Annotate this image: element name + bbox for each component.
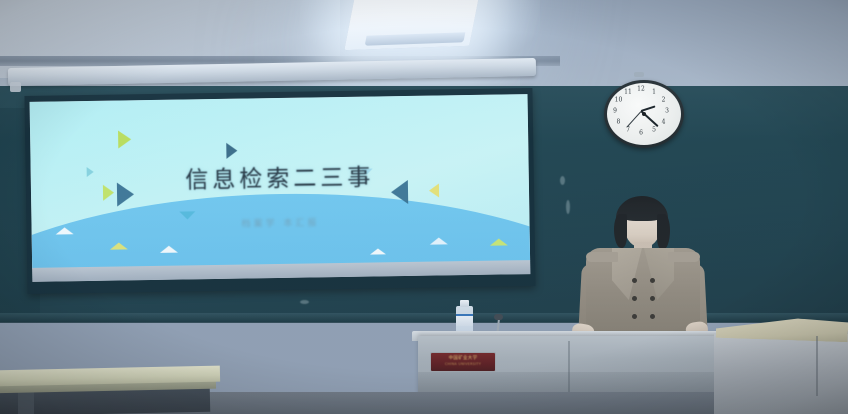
triangle-up-white-2-icon bbox=[160, 246, 178, 253]
chalk-mark-3 bbox=[560, 176, 565, 185]
screen-mount-bracket bbox=[10, 82, 21, 92]
coat-button-6 bbox=[650, 314, 655, 319]
slide-title: 信息检索二三事 bbox=[31, 155, 529, 197]
side-table-body bbox=[714, 334, 848, 414]
coat-button-2 bbox=[650, 278, 655, 283]
presenter-shoulder-left bbox=[586, 252, 618, 262]
clock-numeral-8: 8 bbox=[617, 118, 621, 125]
classroom-photo: Runbo 信息检索二三事 档案学 本汇报 121234567891011 bbox=[0, 0, 848, 414]
water-bottle-cap bbox=[460, 300, 469, 307]
triangle-right-green-icon bbox=[118, 130, 131, 148]
podium-plaque-line2: CHINA UNIVERSITY bbox=[431, 362, 495, 366]
triangle-up-yellow-1-icon bbox=[110, 242, 128, 249]
coat-button-3 bbox=[632, 296, 637, 301]
clock-numeral-4: 4 bbox=[662, 118, 666, 125]
triangle-right-navy-icon bbox=[226, 143, 237, 159]
triangle-up-white-3-icon bbox=[430, 237, 448, 244]
slide-decorations bbox=[30, 94, 528, 102]
clock-numeral-6: 6 bbox=[639, 129, 643, 136]
presenter-coat bbox=[586, 248, 700, 344]
clock-numeral-2: 2 bbox=[662, 97, 666, 104]
presentation-slide: 信息检索二三事 档案学 本汇报 bbox=[30, 94, 531, 269]
clock-center-pin bbox=[642, 112, 646, 116]
presenter-hair-left bbox=[614, 214, 627, 248]
triangle-up-green-1-icon bbox=[490, 238, 508, 245]
presenter-hair-right bbox=[657, 214, 670, 250]
clock-numeral-3: 3 bbox=[665, 108, 669, 115]
microphone-icon bbox=[494, 314, 503, 320]
presenter bbox=[556, 196, 728, 346]
clock-numeral-12: 12 bbox=[637, 86, 645, 93]
presenter-shoulder-right bbox=[668, 252, 700, 262]
projector-screen-surface: 信息检索二三事 档案学 本汇报 bbox=[30, 94, 531, 282]
clock-numeral-5: 5 bbox=[652, 126, 656, 133]
triangle-up-white-4-icon bbox=[370, 248, 386, 254]
clock-numeral-9: 9 bbox=[613, 108, 617, 115]
student-desk-leg bbox=[18, 392, 34, 414]
side-table-seam bbox=[816, 336, 818, 396]
clock-numeral-10: 10 bbox=[615, 97, 623, 104]
podium-plaque: 中国矿业大学 CHINA UNIVERSITY bbox=[430, 352, 496, 372]
clock-numeral-11: 11 bbox=[624, 89, 632, 96]
podium-panel-seam bbox=[568, 341, 570, 399]
coat-button-4 bbox=[650, 296, 655, 301]
coat-button-5 bbox=[632, 314, 637, 319]
clock-mount-nail bbox=[634, 72, 644, 77]
podium-plaque-line1: 中国矿业大学 bbox=[431, 355, 495, 361]
wall-clock: 121234567891011 bbox=[604, 80, 684, 148]
coat-button-1 bbox=[632, 278, 637, 283]
chalk-mark-5 bbox=[300, 300, 309, 304]
clock-second-hand bbox=[627, 111, 642, 127]
projector-screen-frame: 信息检索二三事 档案学 本汇报 bbox=[24, 88, 535, 294]
water-bottle-label bbox=[456, 314, 473, 326]
clock-numeral-1: 1 bbox=[652, 89, 656, 96]
